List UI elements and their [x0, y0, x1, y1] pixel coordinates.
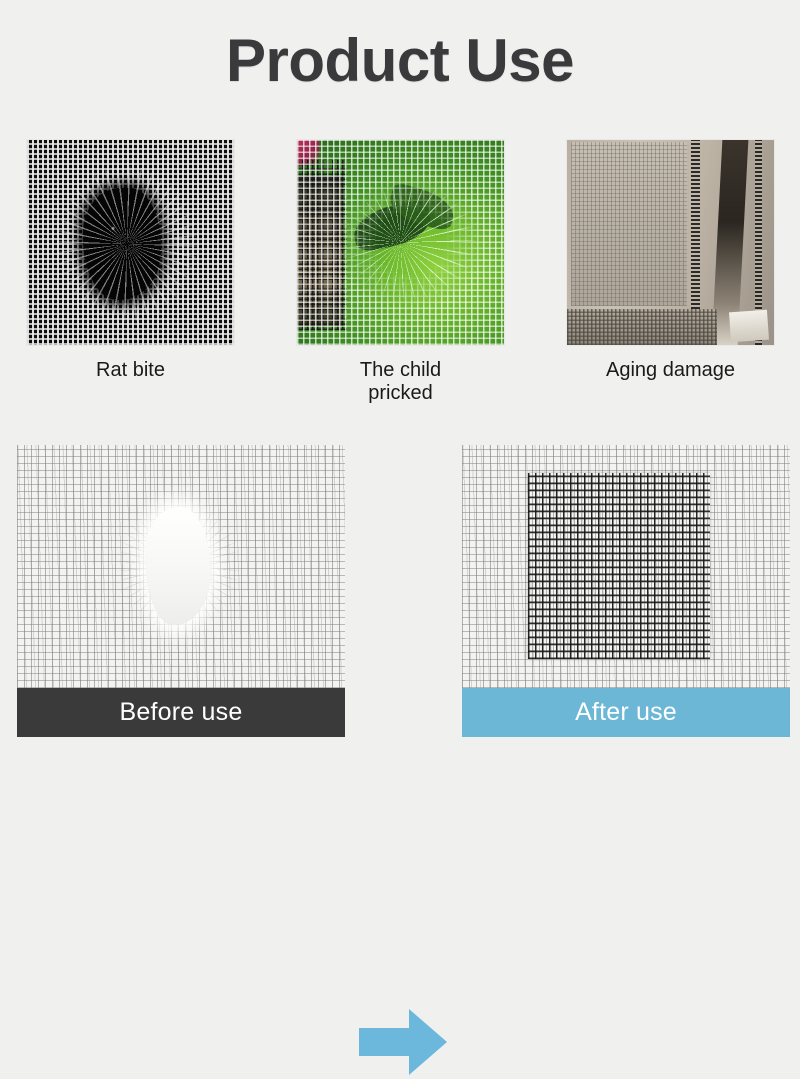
before-use-panel: Before use — [17, 445, 345, 737]
after-use-label: After use — [462, 688, 790, 737]
aging-damage-photo — [567, 140, 774, 345]
after-use-panel: After use — [462, 445, 790, 737]
damage-cards-row: Rat bite The child pricked Aging damage — [0, 140, 800, 400]
right-arrow-icon — [357, 1005, 449, 1079]
photo-torn-threads — [297, 140, 504, 345]
damage-card-caption: The child pricked — [297, 359, 504, 405]
before-after-row: Before use After use — [0, 445, 800, 740]
photo-repair-patch — [528, 473, 710, 659]
before-use-photo — [17, 445, 345, 688]
damage-card-rat-bite: Rat bite — [27, 140, 234, 382]
child-pricked-photo — [297, 140, 504, 345]
photo-white-patch — [729, 310, 769, 343]
after-use-photo — [462, 445, 790, 688]
damage-card-caption: Aging damage — [567, 359, 774, 382]
damage-card-caption: Rat bite — [27, 359, 234, 382]
damage-card-child-pricked: The child pricked — [297, 140, 504, 405]
rat-bite-photo — [27, 140, 234, 345]
page-title: Product Use — [0, 28, 800, 94]
damage-card-aging-damage: Aging damage — [567, 140, 774, 382]
photo-bottom-mesh-strip — [567, 309, 717, 345]
before-use-label: Before use — [17, 688, 345, 737]
photo-screen-panel — [571, 142, 687, 306]
photo-tear-hole — [145, 507, 211, 625]
